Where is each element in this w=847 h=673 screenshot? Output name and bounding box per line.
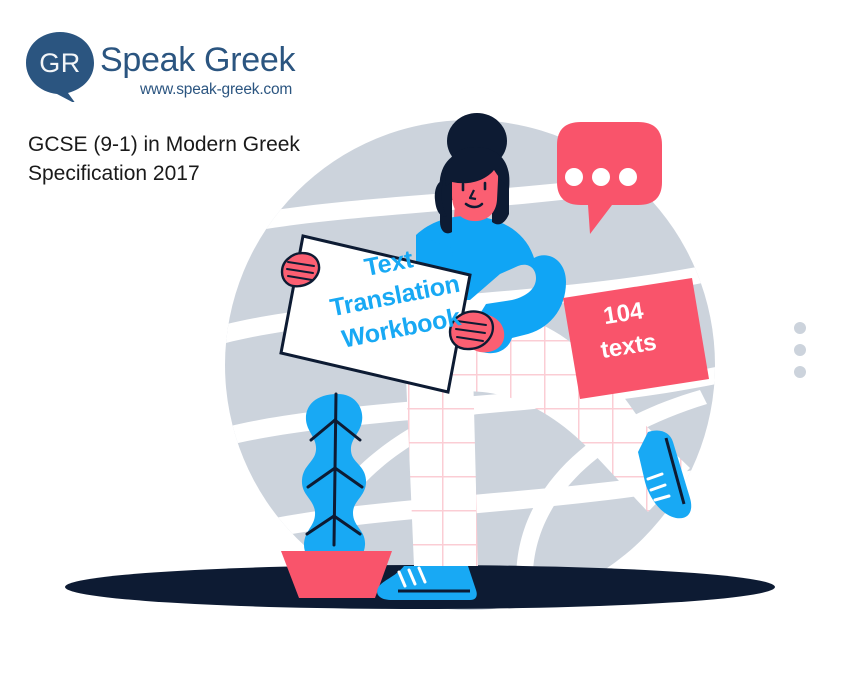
page-title: GCSE (9-1) in Modern Greek Specification… xyxy=(28,130,300,188)
side-dot-icon xyxy=(794,322,806,334)
side-dot-icon xyxy=(794,344,806,356)
logo-badge-text: GR xyxy=(24,30,96,96)
side-dot-icon xyxy=(794,366,806,378)
side-dots-decoration xyxy=(794,322,808,382)
plant-pot xyxy=(281,551,392,598)
brand-website: www.speak-greek.com xyxy=(140,81,292,99)
speech-bubble-dot xyxy=(565,168,583,186)
brand-logo[interactable]: GR Speak Greek www.speak-greek.com xyxy=(24,28,324,114)
speech-bubble-dot xyxy=(619,168,637,186)
speech-bubble-dot xyxy=(592,168,610,186)
brand-name: Speak Greek xyxy=(100,41,295,80)
poster-canvas: Text Translation Workbook 104 texts GR S… xyxy=(0,0,847,673)
